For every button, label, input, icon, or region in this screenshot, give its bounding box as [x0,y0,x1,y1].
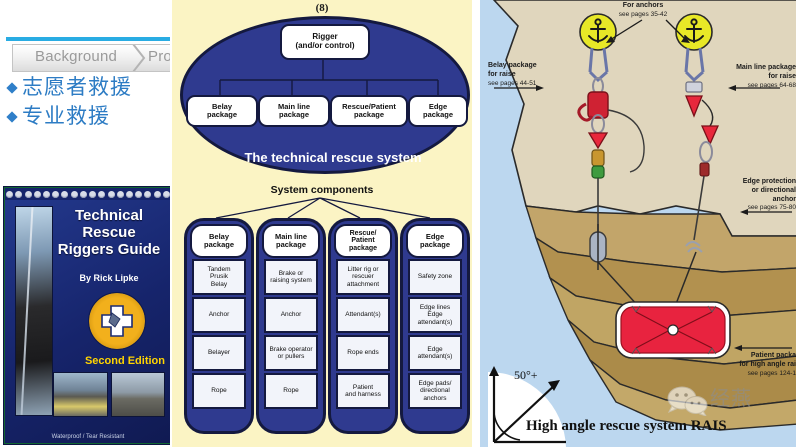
label-line-1: For anchors [598,2,688,11]
column-belay-package: Belay package Tandem Prusik Belay Anchor… [184,218,254,434]
node-edge-package: Edge package [408,95,468,127]
book-photo-right [111,372,166,417]
label-line-3: see pages 124-1 [712,370,796,378]
label-line-1: Patient packa [712,352,796,361]
breadcrumb-item-pro[interactable]: Pro [148,48,170,65]
book-edition: Second Edition [53,355,165,367]
label-line-4: see pages 75-80 [688,204,796,212]
label-main-line-package: Main line package for raise see pages 64… [702,64,796,90]
label-line-2: see pages 35-42 [598,11,688,19]
label-line-3: see pages 44-51 [488,80,537,88]
list-item: Edge lines Edge attendant(s) [408,297,462,333]
column-edge-package: Edge package Safety zone Edge lines Edge… [400,218,470,434]
list-item: Edge attendant(s) [408,335,462,371]
oval-label: The technical rescue system [183,150,472,165]
list-item: Patient and harness [336,373,390,409]
list-item: Rope ends [336,335,390,371]
label-line-2: for high angle rai [712,361,796,370]
list-item: Belayer [192,335,246,371]
list-item: Anchor [264,297,318,333]
figure-number: (8) [172,2,472,14]
book-cover-image: Technical Rescue Riggers Guide By Rick L… [4,187,170,444]
node-rigger-line-2: (and/or control) [295,42,354,51]
left-slide-panel: Background Pro 志愿者救援 专业救援 [0,0,170,447]
bullet-text-volunteer-rescue: 志愿者救援 [22,76,132,99]
label-line-1: Main line package [702,64,796,73]
chevron-right-icon [131,44,147,72]
list-item: Safety zone [408,259,462,295]
book-title-line-1: Technical [53,208,165,225]
column-header: Rescue/ Patient package [334,224,392,258]
label-line-3: anchor [688,196,796,205]
list-item: 志愿者救援 [8,76,168,99]
book-photo-left [53,372,108,417]
list-item: Tandem Prusik Belay [192,259,246,295]
book-footer-note: Waterproof / Tear Resistant [5,434,170,440]
list-item: Anchor [192,297,246,333]
label-line-1: Edge protection [688,178,796,187]
bullet-list: 志愿者救援 专业救援 [8,76,168,134]
list-item: Rope [192,373,246,409]
list-item: Brake or raising system [264,259,318,295]
node-belay-package: Belay package [186,95,258,127]
label-for-anchors: For anchors see pages 35-42 [598,2,688,19]
patient-litter [616,302,730,358]
bullet-text-professional-rescue: 专业救援 [22,105,110,128]
spiral-binding-icon [5,188,170,200]
illustration-title: High angle rescue system RAIS [526,418,796,435]
list-item: Rope [264,373,318,409]
column-header: Main line package [262,224,320,258]
book-title: Technical Rescue Riggers Guide [53,208,165,258]
label-line-1: Belay package [488,62,537,71]
node-main-line-package: Main line package [258,95,330,127]
label-line-2: or directional [688,187,796,196]
wechat-icon [666,386,708,416]
list-item: Litter rig or rescuer attachment [336,259,390,295]
right-illustration-panel: For anchors see pages 35-42 Belay packag… [478,0,796,447]
list-item: 专业救援 [8,105,168,128]
watermark-text: 经燕 [710,382,752,411]
list-item: Attendant(s) [336,297,390,333]
label-edge-protection: Edge protection or directional anchor se… [688,178,796,212]
middle-diagram-panel: (8) The technical rescue system Rigger (… [170,0,472,447]
accent-bar [6,37,170,41]
breadcrumb[interactable]: Background Pro [12,44,170,72]
label-line-2: for raise [702,73,796,82]
book-title-line-2: Rescue [53,225,165,242]
angle-annotation: 50°+ [514,368,538,383]
list-item: Edge pads/ directional anchors [408,373,462,409]
book-author: By Rick Lipke [53,273,165,283]
label-belay-package: Belay package for raise see pages 44-51 [488,62,537,88]
list-item: Brake operator or pullers [264,335,318,371]
diamond-bullet-icon [6,111,17,122]
wechat-watermark: 经燕 [666,386,796,420]
column-header: Belay package [190,224,248,258]
column-rescue-patient-package: Rescue/ Patient package Litter rig or re… [328,218,398,434]
breadcrumb-item-background[interactable]: Background [35,48,117,65]
node-rigger: Rigger (and/or control) [280,24,370,60]
column-header: Edge package [406,224,464,258]
column-main-line-package: Main line package Brake or raising syste… [256,218,326,434]
label-patient-package: Patient packa for high angle rai see pag… [712,352,796,378]
technical-rescue-badge-icon [88,292,146,350]
system-components-title: System components [172,184,472,196]
label-line-3: see pages 64-68 [702,82,796,90]
book-cover-photo-strip [53,372,165,417]
node-rescue-patient-package: Rescue/Patient package [330,95,408,127]
slide-screenshot: Background Pro 志愿者救援 专业救援 [0,0,796,447]
diamond-bullet-icon [6,82,17,93]
book-cover-photo-climber [15,206,53,416]
book-title-line-3: Riggers Guide [53,242,165,259]
label-line-2: for raise [488,71,537,80]
